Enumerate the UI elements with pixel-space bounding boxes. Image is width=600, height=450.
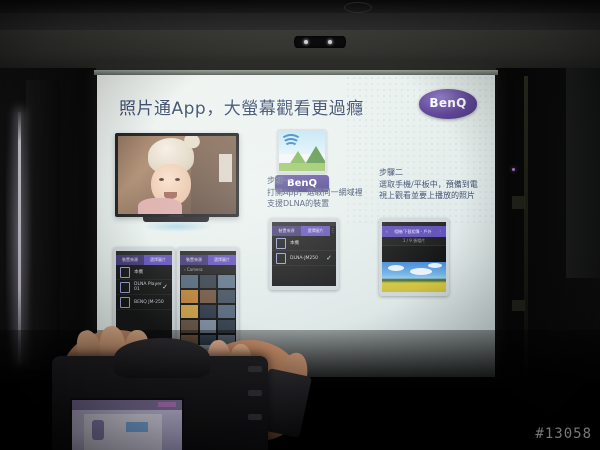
right-wall-fixture	[512, 300, 525, 311]
tab-select-image[interactable]: 選擇圖片	[208, 255, 236, 265]
list-item[interactable]: DLNA-JM250 ✓	[272, 251, 336, 266]
step-two-body: 選取手機/平板中，預備到電視上觀看並要上播放的照片	[379, 180, 478, 200]
list-item-label: 本機	[290, 240, 299, 246]
overflow-menu-icon[interactable]: ⋮	[330, 226, 336, 236]
preview-letterbox	[382, 246, 446, 262]
tv-image-frame-object	[219, 154, 232, 182]
list-item[interactable]: 本機	[116, 265, 172, 280]
list-item[interactable]: 本機	[272, 236, 336, 251]
ceiling-shadow	[0, 0, 600, 13]
step-one-text: 步驟一 打開App，選取同一網域裡支援DLNA的裝置	[267, 175, 367, 209]
slide-title: 照片通App，大螢幕觀看更過癮	[119, 94, 364, 119]
app-icon-ground	[279, 163, 325, 171]
device-picker-phone: 裝置來源 選擇圖片 ⋮ 本機 DLNA-JM250 ✓	[269, 218, 339, 290]
benq-logo: BenQ	[419, 89, 477, 119]
television-mockup	[115, 133, 239, 217]
phone-icon	[276, 238, 286, 249]
right-wall-fixture	[512, 196, 525, 209]
check-icon: ✓	[162, 283, 168, 291]
dslr-camera	[52, 356, 268, 450]
list-item-label: BENQ JM-250	[134, 300, 164, 305]
step-one-body: 打開App，選取同一網域裡支援DLNA的裝置	[267, 188, 363, 208]
thumbnail[interactable]	[199, 304, 218, 319]
benq-logo-text: BenQ	[419, 96, 477, 110]
photo-share-app-icon	[277, 129, 327, 173]
list-item-label: DLNA-JM250	[290, 256, 318, 261]
thumbnail[interactable]	[217, 304, 236, 319]
step-two-text: 步驟二 選取手機/平板中，預備到電視上觀看並要上播放的照片	[379, 167, 481, 201]
step-one-heading: 步驟一	[267, 175, 367, 186]
lcd-mode-indicator	[158, 402, 176, 407]
tab-device-source[interactable]: 裝置來源	[272, 226, 301, 236]
tab-bar: 裝置來源 選擇圖片	[180, 255, 236, 265]
tab-select-image[interactable]: 選擇圖片	[144, 255, 172, 265]
gallery-back-label: Camera	[187, 267, 203, 272]
cloud	[410, 268, 432, 275]
app-bar-title: 相機/下載相簿 - 戶外	[394, 226, 431, 237]
tab-device-source[interactable]: 裝置來源	[116, 255, 144, 265]
list-item-label: DLNA Player 01	[134, 282, 162, 292]
thumbnail[interactable]	[180, 304, 199, 319]
ceiling-light-fixture	[294, 36, 346, 48]
fixture-lamp-icon	[304, 40, 308, 44]
baby-body	[138, 198, 182, 214]
tab-select-image[interactable]: 選擇圖片	[301, 226, 330, 236]
thumbnail[interactable]	[199, 289, 218, 304]
thumbnail[interactable]	[217, 274, 236, 289]
photo-counter: 1 / 9 張相片	[382, 237, 446, 246]
list-item[interactable]: BENQ JM-250	[116, 295, 172, 310]
baby-eye	[175, 178, 180, 181]
thumbnail[interactable]	[199, 274, 218, 289]
list-item-label: 本機	[134, 269, 143, 275]
right-wall-highlight	[566, 68, 600, 278]
lcd-preview-figure	[92, 420, 104, 440]
preview-photo[interactable]	[382, 262, 446, 292]
cast-icon	[120, 282, 130, 293]
camera-lcd-screen[interactable]	[70, 398, 184, 450]
back-icon[interactable]: ‹	[386, 226, 388, 237]
tv-reflection-glow	[141, 221, 213, 232]
overflow-menu-icon[interactable]: ⋮	[438, 226, 442, 237]
baby-eye	[159, 178, 164, 181]
app-bar: ‹ 相機/下載相簿 - 戶外 ⋮	[382, 226, 446, 237]
thumbnail[interactable]	[180, 274, 199, 289]
gallery-back-row[interactable]: ‹ Camera	[180, 265, 236, 274]
thumbnail[interactable]	[180, 289, 199, 304]
cloud	[428, 263, 442, 268]
list-item[interactable]: DLNA Player 01 ✓	[116, 280, 172, 295]
check-icon: ✓	[326, 254, 332, 262]
indicator-led-icon	[512, 168, 515, 171]
camera-button[interactable]	[248, 390, 262, 396]
door-light-strip	[18, 112, 21, 364]
cast-icon	[276, 253, 286, 264]
cloud	[388, 265, 404, 271]
camera-button[interactable]	[248, 366, 262, 372]
wifi-icon	[282, 133, 300, 148]
lcd-preview-accent	[126, 422, 148, 432]
step-two-heading: 步驟二	[379, 167, 481, 178]
tab-device-source[interactable]: 裝置來源	[180, 255, 208, 265]
thumbnail[interactable]	[217, 289, 236, 304]
watermark: #13058	[535, 426, 592, 442]
cast-icon	[120, 297, 130, 308]
camera-lens	[114, 338, 210, 378]
photo-preview-phone: ‹ 相機/下載相簿 - 戶外 ⋮ 1 / 9 張相片	[379, 218, 449, 296]
ceiling-vent-icon	[344, 2, 372, 13]
fixture-lamp-icon	[328, 40, 332, 44]
tab-bar: 裝置來源 選擇圖片 ⋮	[272, 226, 336, 236]
camera-button[interactable]	[248, 414, 262, 420]
tab-bar: 裝置來源 選擇圖片	[116, 255, 172, 265]
phone-icon	[120, 267, 130, 278]
device-picker-screen: 裝置來源 選擇圖片 ⋮ 本機 DLNA-JM250 ✓	[272, 222, 336, 286]
photo-preview-screen: ‹ 相機/下載相簿 - 戶外 ⋮ 1 / 9 張相片	[382, 222, 446, 292]
tv-screen-image	[118, 136, 236, 214]
photograph: 照片通App，大螢幕觀看更過癮 BenQ	[0, 0, 600, 450]
